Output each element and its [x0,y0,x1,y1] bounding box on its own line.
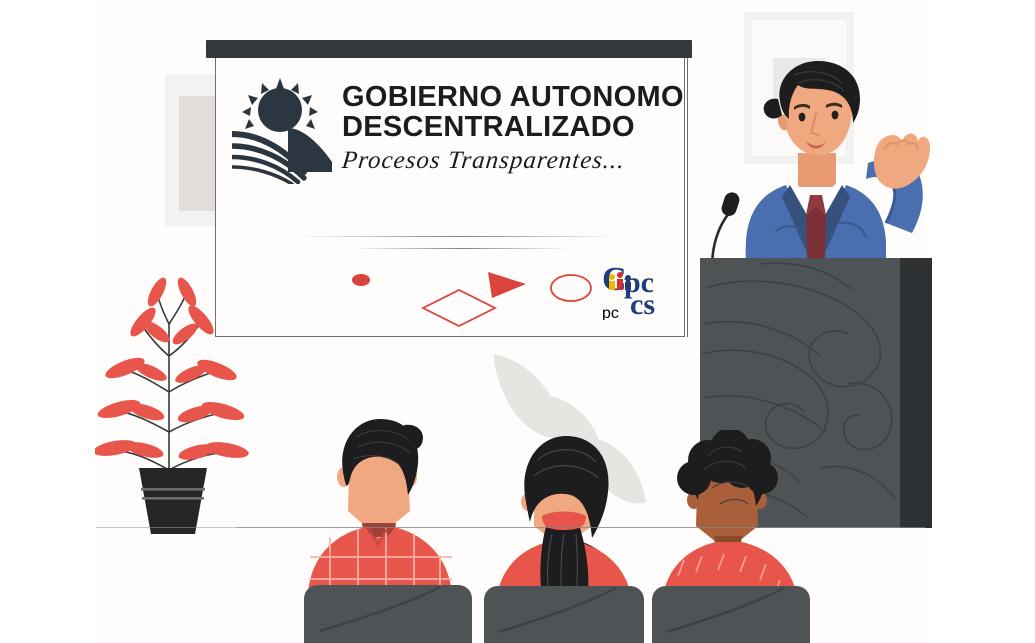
audience-member-1 [300,415,500,643]
slide-divider-2 [356,248,566,249]
projector-screen[interactable]: GOBIERNO AUTONOMO DESCENTRALIZADO Proces… [215,58,685,337]
projector-screen-mount [206,40,692,58]
red-ellipse-small-icon [352,274,370,286]
slide-title-line-2: DESCENTRALIZADO [342,112,684,142]
red-triangle-icon [488,272,526,298]
audience-member-3 [650,430,830,643]
slide-divider-1 [304,236,614,237]
slide-logo-text: GOBIERNO AUTONOMO DESCENTRALIZADO Proces… [342,74,684,175]
illustration-canvas: GOBIERNO AUTONOMO DESCENTRALIZADO Proces… [0,0,1035,643]
svg-text:cs: cs [630,288,655,320]
projector-screen-edge [687,58,688,337]
sun-over-hills-icon [232,76,336,184]
slide-tagline: Procesos Transparentes... [341,147,686,175]
potted-plant [95,272,251,534]
slide-logo-block: GOBIERNO AUTONOMO DESCENTRALIZADO Proces… [232,74,672,204]
plant-pot-icon [139,468,207,534]
red-circle-outline-icon [551,275,591,301]
plant-leaves-icon [95,275,250,463]
cpccs-logo: C pc cs pc [602,258,676,320]
scene-description: A man in a blue suit speaks at a dark wo… [0,0,1,1]
cpccs-line-1: pc [602,305,619,320]
floor-horizon-line-accent [237,527,797,528]
slide-title-line-1: GOBIERNO AUTONOMO [342,82,684,112]
red-diamond-outline-icon [423,290,495,326]
audience-member-2 [480,430,670,643]
